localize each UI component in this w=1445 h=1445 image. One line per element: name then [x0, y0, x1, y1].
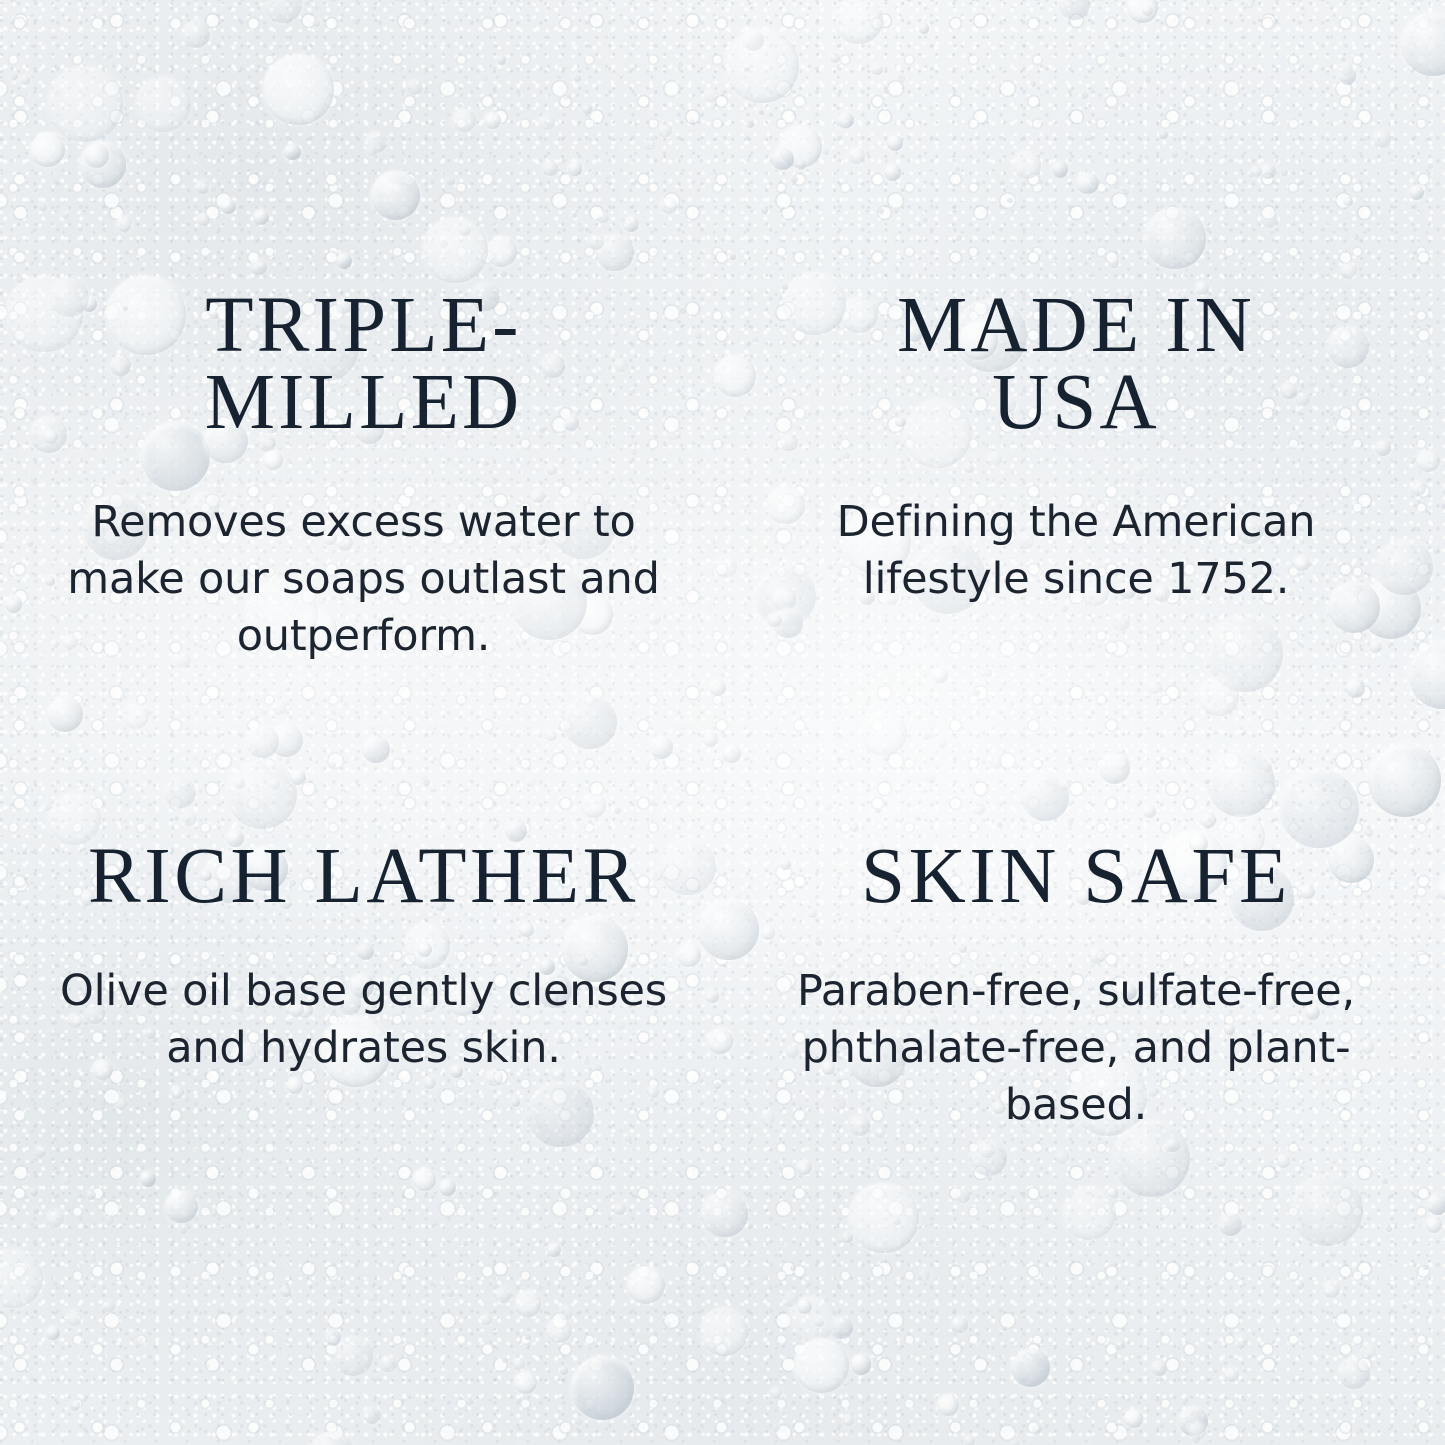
feature-title: TRIPLE-MILLED — [149, 287, 579, 442]
feature-skin-safe: SKIN SAFE Paraben-free, sulfate-free, ph… — [723, 723, 1445, 1445]
feature-title: MADE IN USA — [861, 287, 1291, 442]
feature-description: Paraben-free, sulfate-free, phthalate-fr… — [786, 963, 1366, 1134]
feature-rich-lather: RICH LATHER Olive oil base gently clense… — [0, 723, 723, 1445]
feature-title: SKIN SAFE — [861, 838, 1291, 915]
feature-triple-milled: TRIPLE-MILLED Removes excess water to ma… — [0, 0, 723, 723]
features-grid: TRIPLE-MILLED Removes excess water to ma… — [0, 0, 1445, 1445]
product-benefits-infographic: TRIPLE-MILLED Removes excess water to ma… — [0, 0, 1445, 1445]
feature-title: RICH LATHER — [88, 838, 639, 915]
feature-description: Defining the American lifestyle since 17… — [811, 494, 1341, 608]
feature-description: Olive oil base gently clenses and hydrat… — [54, 963, 674, 1077]
feature-made-in-usa: MADE IN USA Defining the American lifest… — [723, 0, 1445, 723]
feature-description: Removes excess water to make our soaps o… — [64, 494, 664, 665]
